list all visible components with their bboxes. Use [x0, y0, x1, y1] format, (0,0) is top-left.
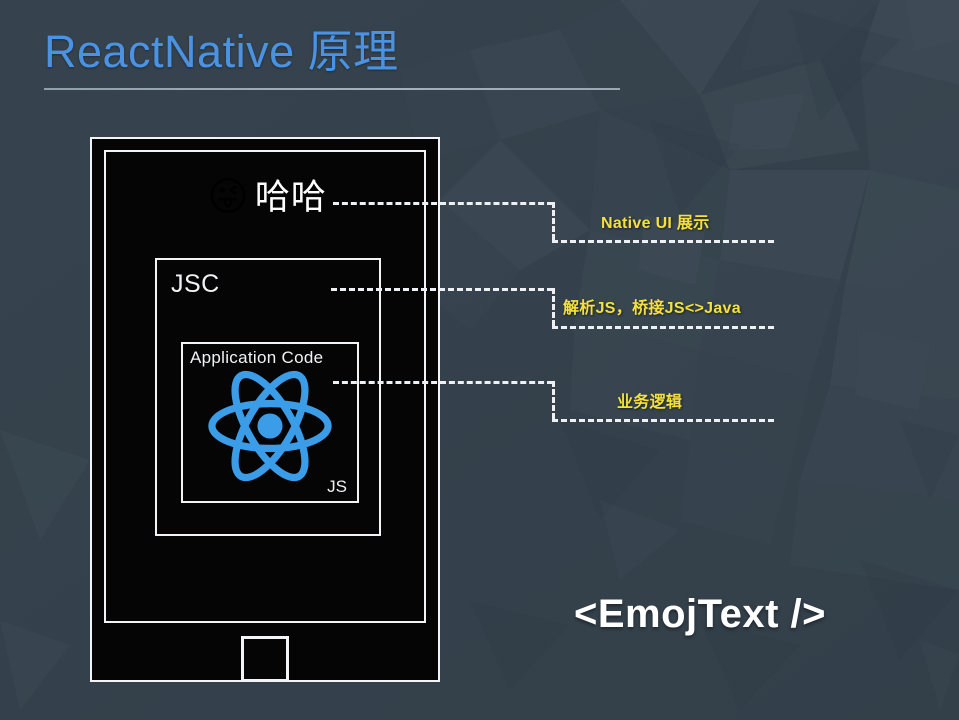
callout-3-drop-line: [552, 381, 555, 419]
component-tag-label: <EmojText />: [574, 592, 826, 637]
slide-canvas: ReactNative 原理 😜 哈哈 JSC Application Code: [0, 0, 959, 720]
callout-3-leader-line: [333, 381, 553, 384]
callout-3-label: 业务逻辑: [617, 388, 682, 412]
callout-3-underline: [552, 419, 774, 422]
